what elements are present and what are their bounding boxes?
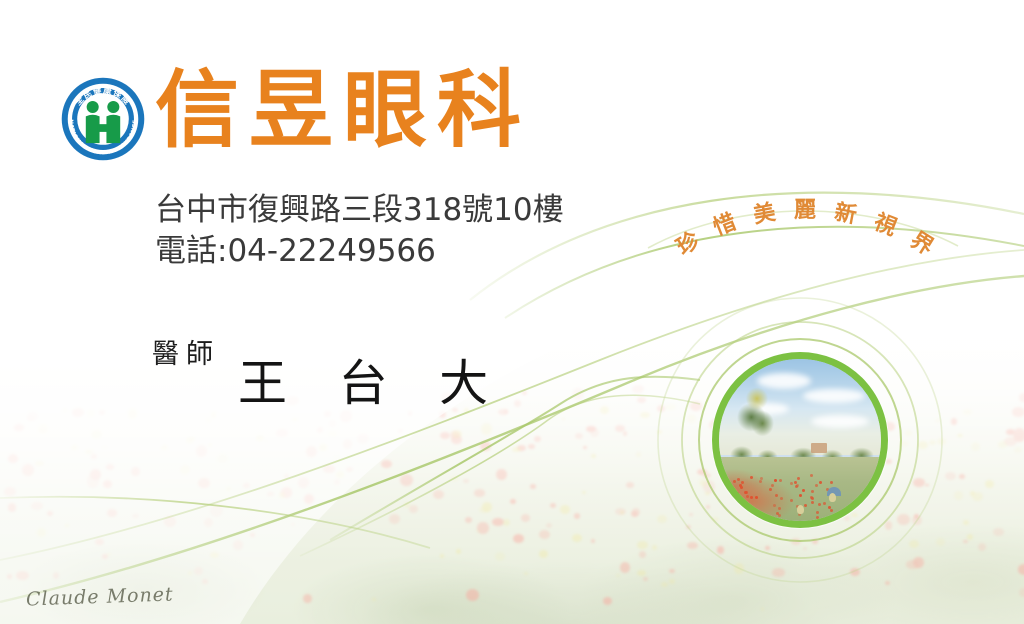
painting-poppy-dot: [804, 504, 807, 507]
painting-poppy-dot: [778, 507, 781, 510]
painting-poppy-dot: [780, 497, 783, 500]
painting-poppy-dot: [723, 511, 726, 514]
painting-poppy-dot: [737, 478, 740, 481]
painting-poppy-dot: [802, 489, 805, 492]
painting-poppy-dot: [830, 481, 833, 484]
painting-poppy-dot: [742, 507, 745, 510]
painting-poppy-dot: [771, 484, 774, 487]
painting-cloud: [811, 415, 869, 428]
painting-poppy-dot: [811, 501, 814, 504]
painting-poppy-dot: [795, 485, 798, 488]
painting-cloud: [803, 389, 865, 403]
painting-poppy-dot: [790, 482, 793, 485]
painting-poppy-dot: [733, 496, 736, 499]
iris-monet-artwork: [712, 352, 888, 528]
painting-poppy-dot: [737, 510, 740, 513]
painting-poppy-dot: [740, 486, 743, 489]
painting-poppy-dot: [779, 479, 782, 482]
painting-poppy-dot: [724, 481, 727, 484]
doctor-title: 醫師: [152, 332, 220, 371]
painting-poppy-dot: [728, 497, 731, 500]
painting-poppy-dot: [744, 512, 747, 515]
painting-poppy-dot: [765, 515, 768, 518]
painting-poppy-dot: [740, 497, 743, 500]
painting-poppy-dot: [818, 503, 821, 506]
painting-poppy-dot: [755, 496, 758, 499]
painting-poppy-dot: [736, 502, 739, 505]
painting-poppy-dot: [830, 509, 833, 512]
painting-poppy-dot: [811, 490, 814, 493]
painting-poppy-dot: [726, 501, 729, 504]
painting-house: [811, 443, 827, 453]
painting-poppy-dot: [823, 502, 826, 505]
painting-poppy-dot: [816, 516, 819, 519]
painting-poppy-dot: [773, 504, 776, 507]
painting-poppy-dot: [750, 496, 753, 499]
painting-poppy-dot: [746, 495, 749, 498]
painting-poppy-dot: [775, 494, 778, 497]
clinic-phone: 電話:04-22249566: [155, 230, 436, 272]
tagline-arc: 珍惜美麗新視界: [660, 178, 950, 248]
tagline-char: 美: [750, 194, 778, 230]
painting-poppy-dot: [733, 480, 736, 483]
business-card: 全民健康保險 NATIONAL HEALTH INSURANCE 信昱眼科 台中…: [0, 0, 1024, 624]
tagline-char: 視: [870, 204, 902, 242]
painting-poppy-dot: [735, 491, 738, 494]
national-health-insurance-logo: 全民健康保險 NATIONAL HEALTH INSURANCE: [60, 76, 146, 162]
painting-poppy-dot: [819, 481, 822, 484]
clinic-name: 信昱眼科: [155, 68, 531, 152]
painting-poppy-dot: [815, 484, 818, 487]
painting-figure: [797, 505, 804, 514]
tagline-char: 麗: [794, 192, 816, 224]
clinic-address: 台中市復興路三段318號10樓: [155, 189, 564, 231]
painting-figure: [829, 493, 836, 502]
tagline-char: 新: [832, 194, 860, 230]
painting-poppy-dot: [790, 499, 793, 502]
painting-poppy-dot: [769, 488, 772, 491]
painting-poppy-dot: [774, 479, 777, 482]
painting-poppy-dot: [810, 474, 813, 477]
painting-poppy-dot: [757, 511, 760, 514]
painting-poppy-dot: [797, 477, 800, 480]
painting-poppy-dot: [746, 508, 749, 511]
painting-poppy-dot: [778, 514, 781, 517]
painting-poppy-dot: [816, 511, 819, 514]
painting-poppy-field: [719, 455, 837, 521]
iris-painting: [719, 359, 881, 521]
painting-poppy-dot: [759, 480, 762, 483]
tagline-char: 惜: [708, 204, 740, 242]
painting-poppy-dot: [799, 494, 802, 497]
painting-poppy-dot: [734, 514, 737, 517]
painting-poppy-dot: [741, 481, 744, 484]
doctor-name: 王 台 大: [238, 344, 506, 415]
painting-poppy-dot: [750, 476, 753, 479]
